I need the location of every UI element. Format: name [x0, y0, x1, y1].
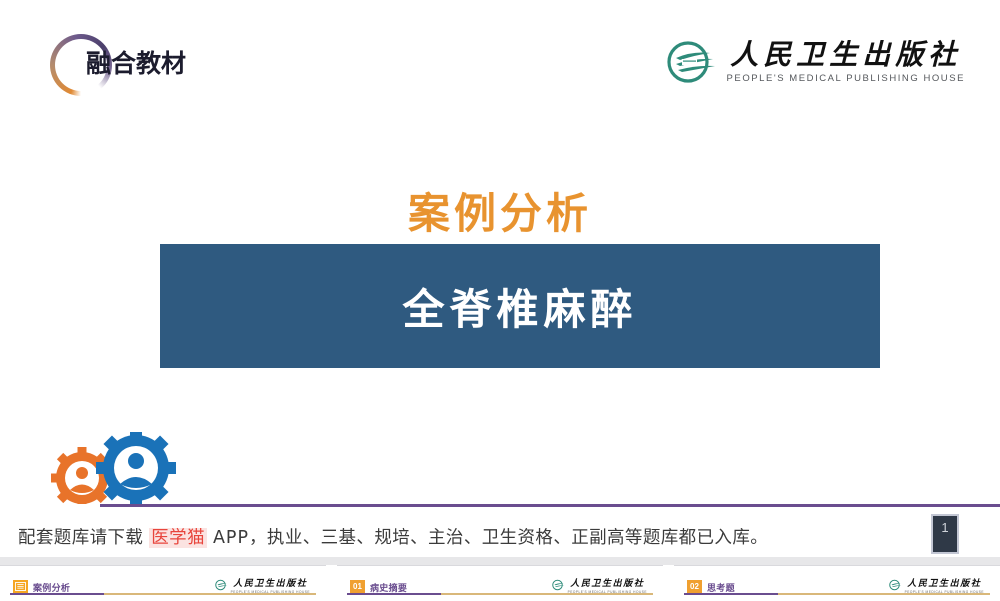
slide-strip-separator	[0, 557, 1000, 565]
publisher-logo: 人民卫生出版社 PEOPLE'S MEDICAL PUBLISHING HOUS…	[666, 33, 965, 91]
thumbnail-publisher-en: PEOPLE'S MEDICAL PUBLISHING HOUSE	[568, 590, 647, 594]
footer-divider	[100, 504, 1000, 507]
thumbnail-publisher-en: PEOPLE'S MEDICAL PUBLISHING HOUSE	[231, 590, 310, 594]
thumbnail-publisher-cn: 人民卫生出版社	[905, 576, 984, 589]
thumbnail-label: 案例分析	[33, 581, 70, 594]
case-title: 案例分析	[0, 180, 1000, 241]
thumbnail-publisher-logo: 人民卫生出版社 PEOPLE'S MEDICAL PUBLISHING HOUS…	[215, 576, 310, 594]
thumbnail-slide-2[interactable]: 01 病史摘要 人民卫生出版社 PEOPLE'S MEDICAL PUBLISH…	[337, 565, 663, 601]
thumbnail-slide-3[interactable]: 02 思考题 人民卫生出版社 PEOPLE'S MEDICAL PUBLISHI…	[674, 565, 1000, 601]
thumbnail-publisher-en: PEOPLE'S MEDICAL PUBLISHING HOUSE	[905, 590, 984, 594]
brand-logo: 融合教材	[44, 30, 219, 92]
brand-logo-label: 融合教材	[86, 44, 186, 80]
thumbnail-publisher-cn: 人民卫生出版社	[568, 576, 647, 589]
slide-filmstrip[interactable]: 案例分析 人民卫生出版社 PEOPLE'S MEDICAL PUBLISHING…	[0, 565, 1000, 600]
page-number-badge: 1	[931, 514, 959, 554]
thumbnail-number-badge: 01	[350, 580, 365, 593]
thumbnail-label: 思考题	[707, 581, 735, 594]
publisher-name-en: PEOPLE'S MEDICAL PUBLISHING HOUSE	[727, 73, 965, 84]
promo-app-word: APP	[213, 528, 249, 548]
thumbnail-slide-1[interactable]: 案例分析 人民卫生出版社 PEOPLE'S MEDICAL PUBLISHING…	[0, 565, 326, 601]
promo-highlight: 医学猫	[149, 528, 207, 548]
thumbnail-publisher-logo: 人民卫生出版社 PEOPLE'S MEDICAL PUBLISHING HOUS…	[889, 576, 984, 594]
thumbnail-publisher-cn: 人民卫生出版社	[231, 576, 310, 589]
topic-banner-text: 全脊椎麻醉	[402, 276, 637, 337]
topic-banner: 全脊椎麻醉	[160, 244, 880, 368]
thumbnail-number-badge: 02	[687, 580, 702, 593]
list-icon	[13, 580, 28, 593]
thumbnail-publisher-logo: 人民卫生出版社 PEOPLE'S MEDICAL PUBLISHING HOUS…	[552, 576, 647, 594]
gears-people-icon	[48, 432, 176, 504]
promo-prefix: 配套题库请下载	[18, 528, 143, 548]
promo-text: 配套题库请下载 医学猫 APP，执业、三基、规培、主治、卫生资格、正副高等题库都…	[18, 524, 768, 549]
publisher-name-cn: 人民卫生出版社	[727, 40, 965, 69]
thumbnail-label: 病史摘要	[370, 581, 407, 594]
publisher-mark-icon	[666, 38, 718, 86]
promo-suffix: ，执业、三基、规培、主治、卫生资格、正副高等题库都已入库。	[249, 528, 768, 548]
slide-canvas[interactable]: 融合教材 人民卫生出版社 PEOPLE'S MEDICAL PUBLISHING…	[0, 0, 1000, 557]
